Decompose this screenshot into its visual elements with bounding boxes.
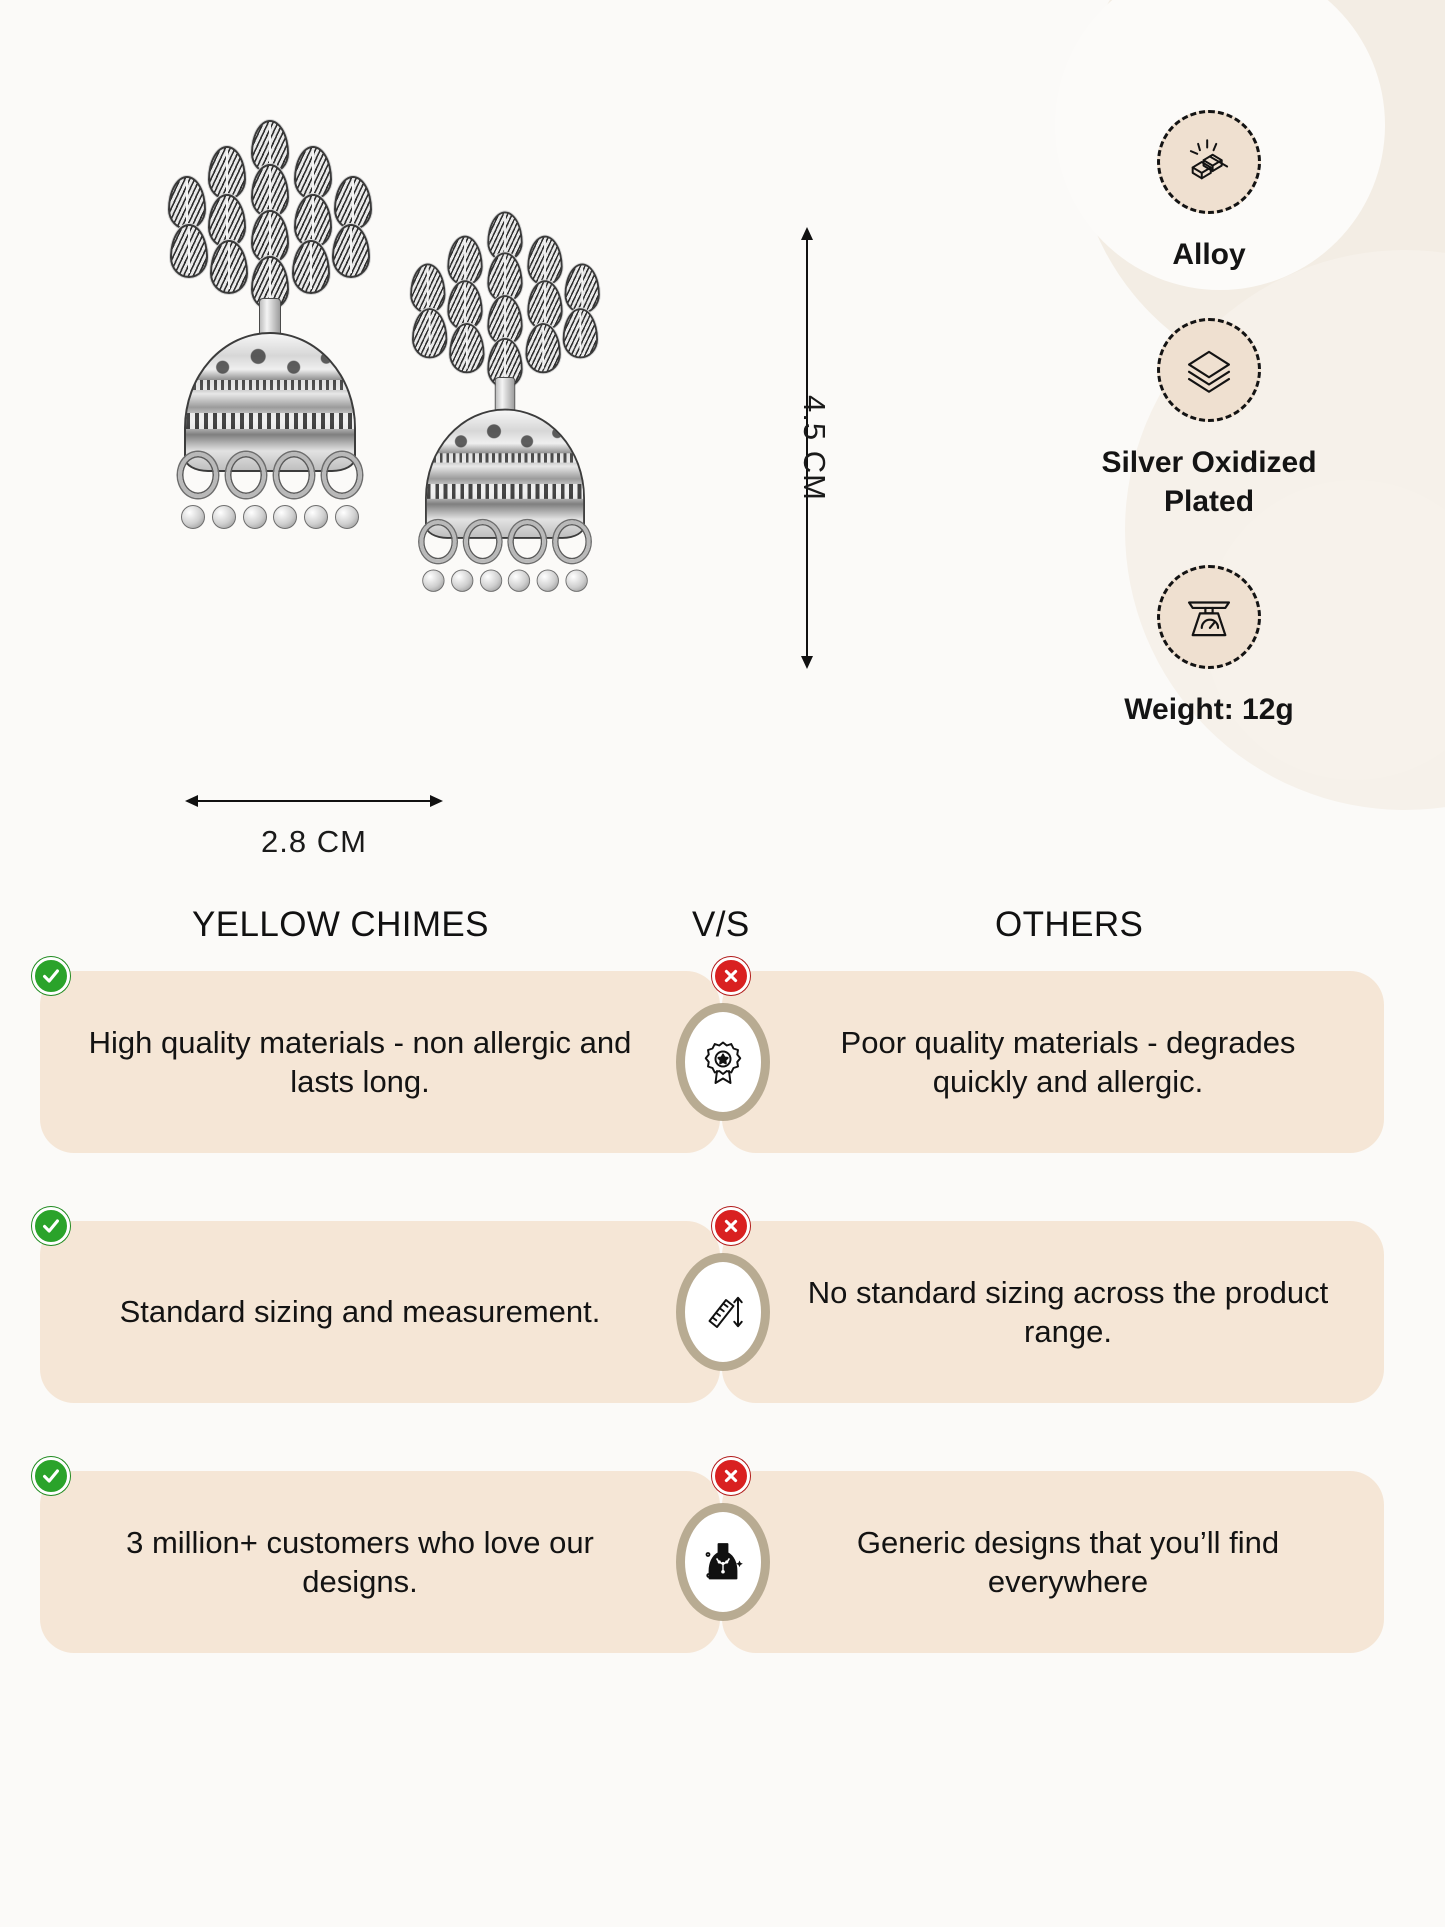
check-icon bbox=[32, 1207, 70, 1245]
comparison-header-vs: V/S bbox=[692, 905, 750, 945]
comparison-table: YELLOW CHIMES V/S OTHERS High quality ma… bbox=[0, 905, 1445, 1721]
width-dimension-label: 2.8 CM bbox=[196, 824, 432, 860]
comparison-others-text: Generic designs that you’ll find everywh… bbox=[768, 1523, 1338, 1602]
earring-secondary bbox=[403, 211, 608, 383]
comparison-row: Standard sizing and measurement. No stan… bbox=[0, 1221, 1445, 1403]
earring-leaf-crown bbox=[160, 120, 380, 305]
comparison-header-others: OTHERS bbox=[995, 905, 1143, 945]
product-showcase: 4.5 CM 2.8 CM Alloy bbox=[0, 0, 1445, 840]
comparison-others-text: Poor quality materials - degrades quickl… bbox=[768, 1023, 1338, 1102]
spec-item-weight: Weight: 12g bbox=[1059, 565, 1359, 729]
quality-badge-icon bbox=[676, 1003, 770, 1121]
gold-bars-icon bbox=[1157, 110, 1261, 214]
ruler-measure-icon bbox=[676, 1253, 770, 1371]
cross-icon bbox=[712, 1457, 750, 1495]
comparison-brand-panel: 3 million+ customers who love our design… bbox=[40, 1471, 720, 1653]
spec-label-plating: Silver Oxidized Plated bbox=[1101, 444, 1316, 521]
comparison-header-brand: YELLOW CHIMES bbox=[192, 905, 489, 945]
comparison-brand-panel: Standard sizing and measurement. bbox=[40, 1221, 720, 1403]
cross-icon bbox=[712, 1207, 750, 1245]
comparison-others-panel: Poor quality materials - degrades quickl… bbox=[722, 971, 1384, 1153]
comparison-brand-text: High quality materials - non allergic an… bbox=[86, 1023, 674, 1102]
layers-icon bbox=[1157, 318, 1261, 422]
earring-primary bbox=[160, 120, 380, 305]
comparison-others-panel: Generic designs that you’ll find everywh… bbox=[722, 1471, 1384, 1653]
width-dimension-arrow bbox=[196, 800, 432, 802]
earring-bead-fringe bbox=[178, 500, 362, 534]
spec-item-plating: Silver Oxidized Plated bbox=[1059, 318, 1359, 521]
spec-label-alloy: Alloy bbox=[1172, 236, 1245, 274]
product-spec-list: Alloy Silver Oxidized Plated bbox=[1059, 110, 1359, 774]
earring-photo bbox=[140, 110, 660, 690]
check-icon bbox=[32, 1457, 70, 1495]
height-dimension-label: 4.5 CM bbox=[796, 395, 832, 501]
comparison-row: 3 million+ customers who love our design… bbox=[0, 1471, 1445, 1653]
spec-label-weight: Weight: 12g bbox=[1124, 691, 1293, 729]
spec-item-alloy: Alloy bbox=[1059, 110, 1359, 274]
comparison-brand-text: Standard sizing and measurement. bbox=[120, 1292, 641, 1331]
comparison-others-panel: No standard sizing across the product ra… bbox=[722, 1221, 1384, 1403]
jewelry-display-icon bbox=[676, 1503, 770, 1621]
comparison-row: High quality materials - non allergic an… bbox=[0, 971, 1445, 1153]
comparison-brand-panel: High quality materials - non allergic an… bbox=[40, 971, 720, 1153]
comparison-others-text: No standard sizing across the product ra… bbox=[768, 1273, 1338, 1352]
comparison-brand-text: 3 million+ customers who love our design… bbox=[86, 1523, 674, 1602]
check-icon bbox=[32, 957, 70, 995]
cross-icon bbox=[712, 957, 750, 995]
earring-dome bbox=[184, 332, 356, 472]
earring-leaf-crown bbox=[403, 211, 608, 383]
earring-bead-fringe bbox=[419, 565, 590, 597]
weighing-scale-icon bbox=[1157, 565, 1261, 669]
